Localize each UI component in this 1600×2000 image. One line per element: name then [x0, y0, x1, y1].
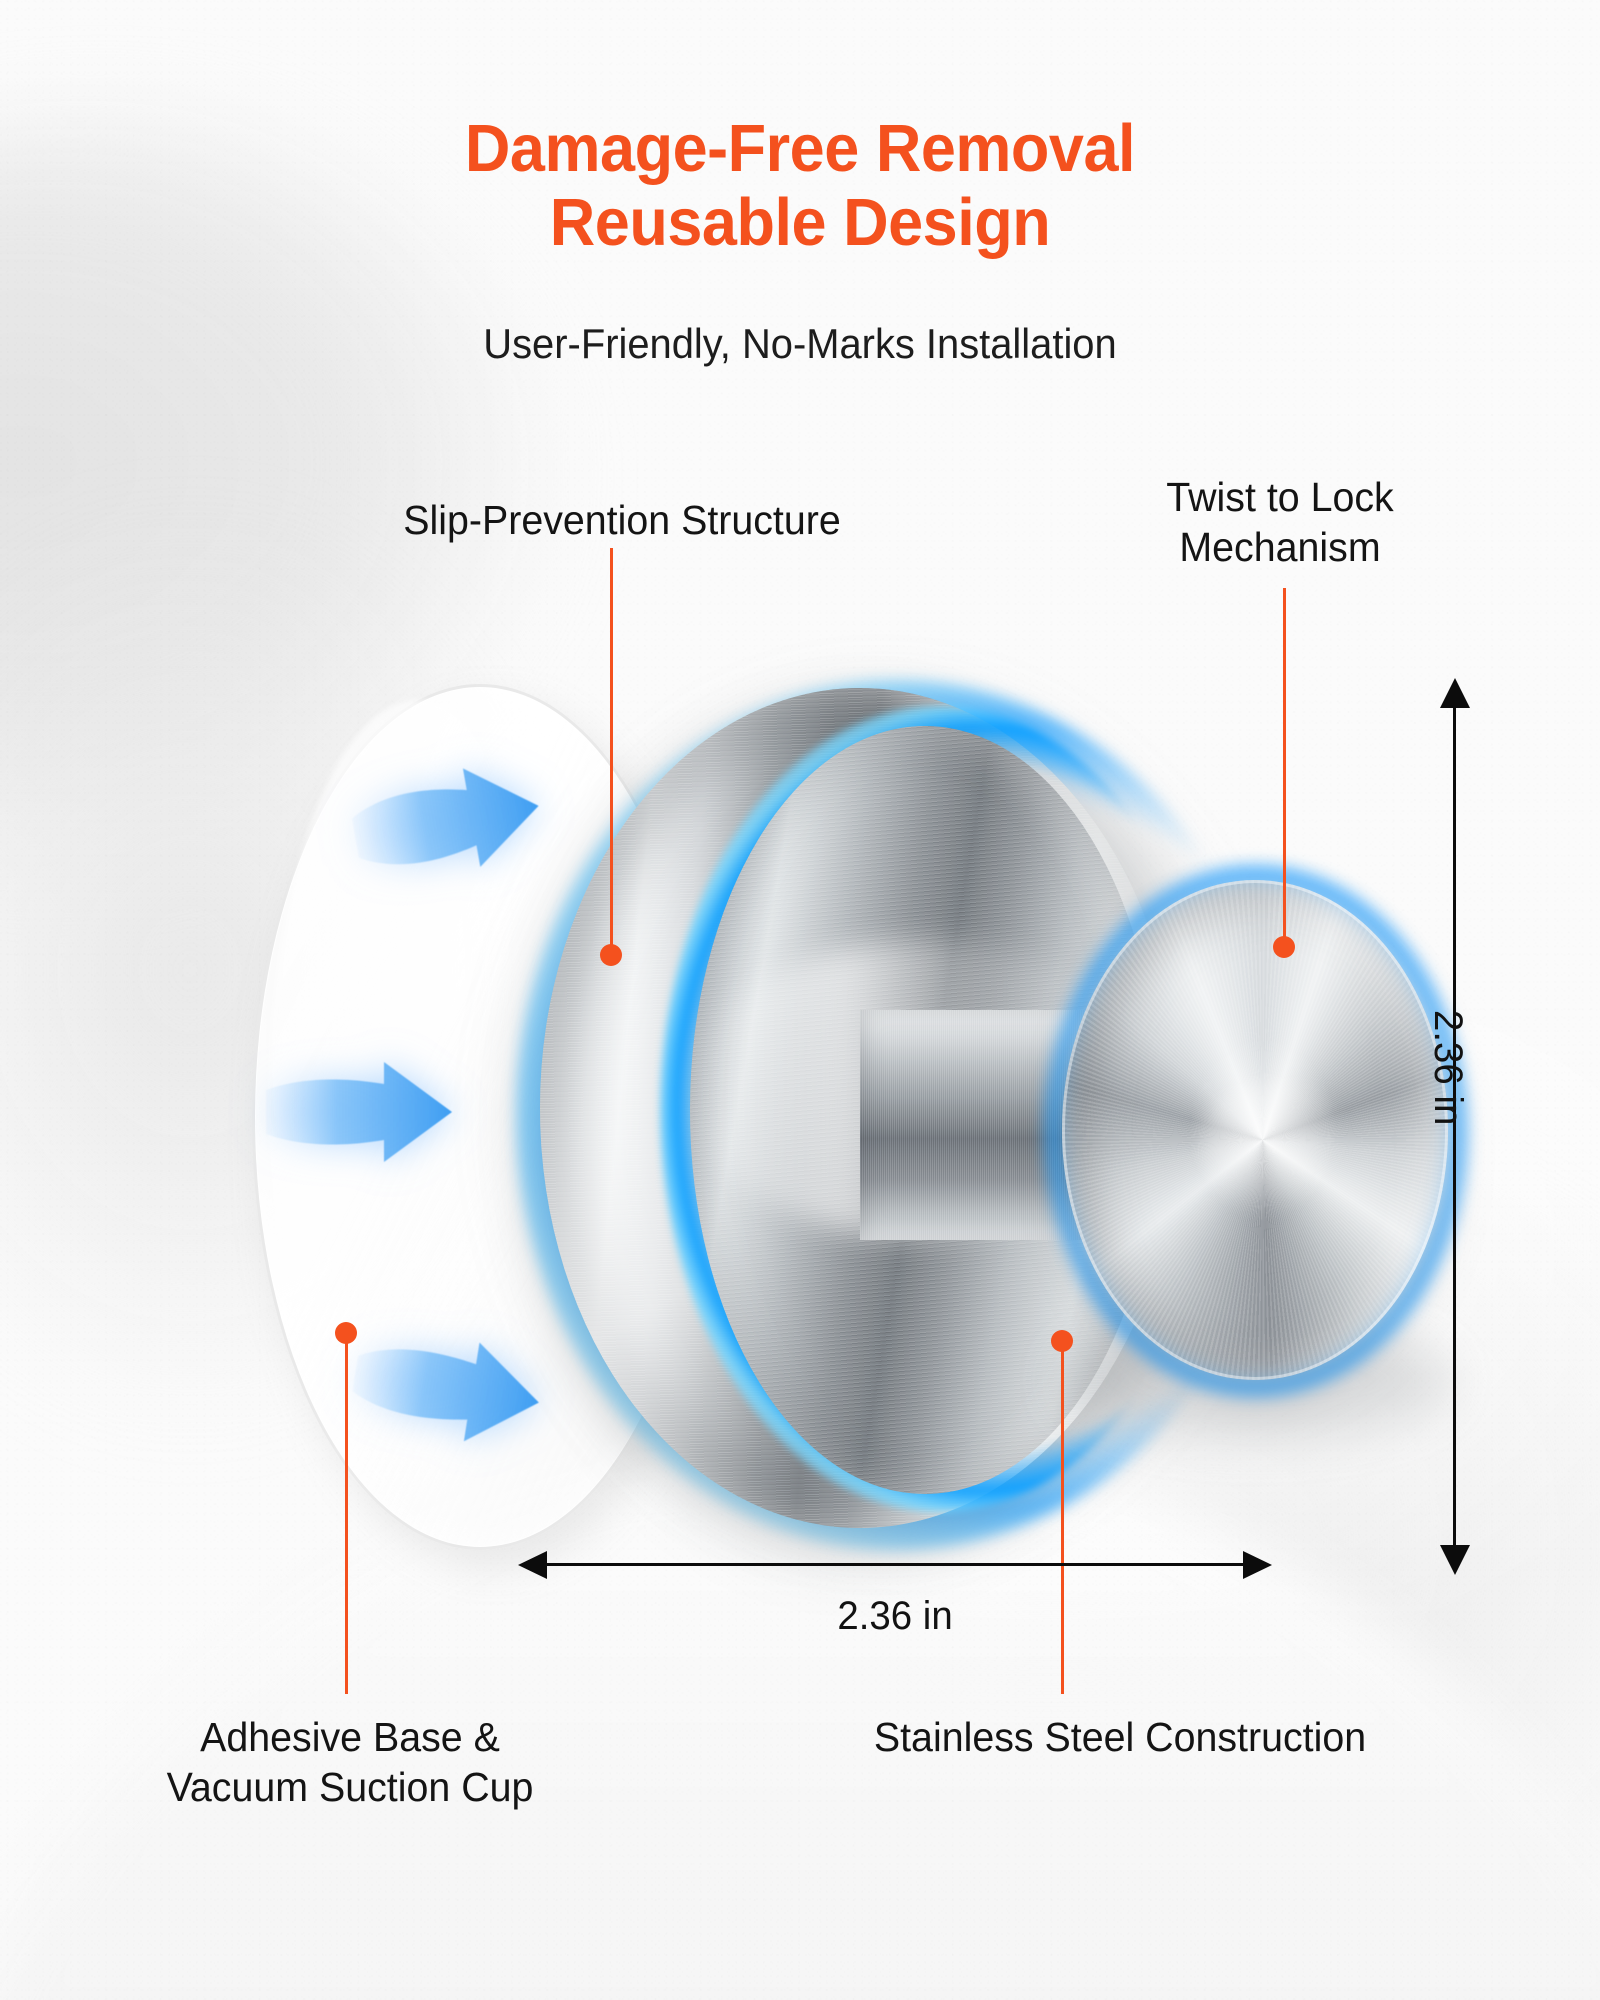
- callout-dot-twist-to-lock: [1273, 936, 1295, 958]
- dimension-label-height: 2.36 in: [1425, 1010, 1470, 1125]
- callout-leader-line-adhesive-base: [345, 1342, 348, 1694]
- callout-leader-line-slip-prevention: [610, 548, 613, 948]
- product-infographic: Damage-Free Removal Reusable Design User…: [0, 0, 1600, 2000]
- callout-leader-line-twist-to-lock: [1283, 588, 1286, 940]
- callout-label-twist-to-lock: Twist to Lock Mechanism: [1088, 472, 1472, 572]
- dimension-label-width-wrapper: 2.36 in: [545, 1594, 1245, 1639]
- callout-dot-slip-prevention: [600, 944, 622, 966]
- callout-label-twist-to-lock-line-2: Mechanism: [1088, 522, 1472, 572]
- callout-label-slip-prevention: Slip-Prevention Structure: [305, 495, 939, 545]
- callout-label-adhesive-base-line-1: Adhesive Base &: [52, 1712, 647, 1762]
- dimension-arrowhead-left-icon: [518, 1551, 547, 1579]
- dimension-arrowhead-up-icon: [1440, 678, 1470, 708]
- callout-dot-stainless-steel: [1051, 1330, 1073, 1352]
- callout-label-adhesive-base-line-2: Vacuum Suction Cup: [52, 1762, 647, 1812]
- dimension-arrowhead-right-icon: [1243, 1551, 1272, 1579]
- product-illustration: [0, 0, 1600, 2000]
- knob-specular-highlight: [1200, 1080, 1350, 1210]
- callout-label-stainless-steel: Stainless Steel Construction: [755, 1712, 1485, 1762]
- dimension-arrowhead-down-icon: [1440, 1545, 1470, 1575]
- callout-label-adhesive-base: Adhesive Base & Vacuum Suction Cup: [52, 1712, 647, 1812]
- suction-arrow-middle-icon: [264, 1060, 454, 1164]
- dimension-label-width: 2.36 in: [837, 1594, 952, 1639]
- callout-dot-adhesive-base: [335, 1322, 357, 1344]
- callout-leader-line-stainless-steel: [1061, 1350, 1064, 1694]
- dimension-line-horizontal: [545, 1563, 1245, 1566]
- callout-label-twist-to-lock-line-1: Twist to Lock: [1088, 472, 1472, 522]
